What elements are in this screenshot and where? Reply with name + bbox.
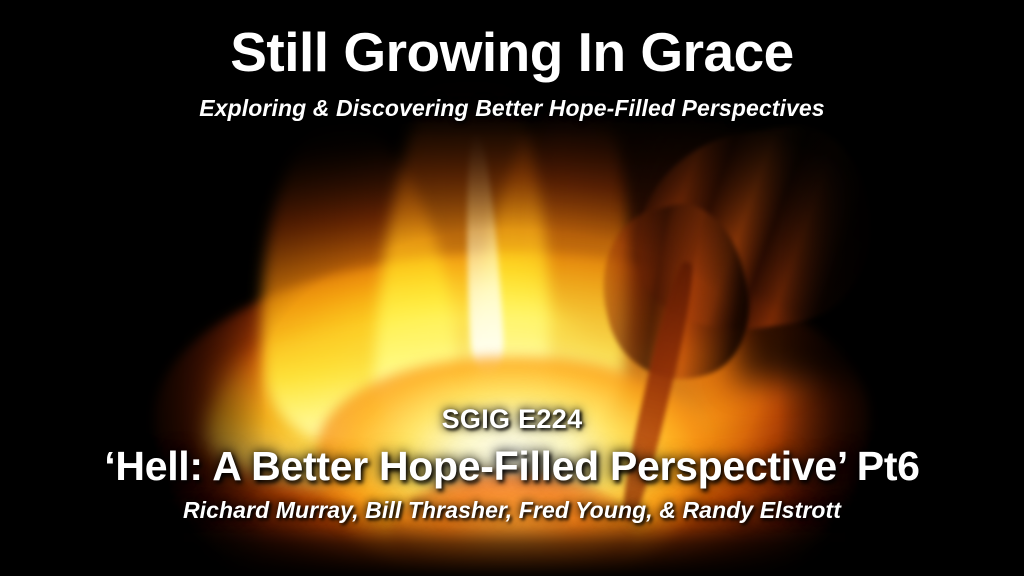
host-names: Richard Murray, Bill Thrasher, Fred Youn… (0, 497, 1024, 524)
text-overlay: Still Growing In Grace Exploring & Disco… (0, 0, 1024, 576)
episode-title: ‘Hell: A Better Hope-Filled Perspective’… (0, 443, 1024, 490)
show-tagline: Exploring & Discovering Better Hope-Fill… (0, 95, 1024, 122)
title-card-slide: Still Growing In Grace Exploring & Disco… (0, 0, 1024, 576)
episode-code: SGIG E224 (0, 404, 1024, 435)
show-title: Still Growing In Grace (0, 24, 1024, 82)
